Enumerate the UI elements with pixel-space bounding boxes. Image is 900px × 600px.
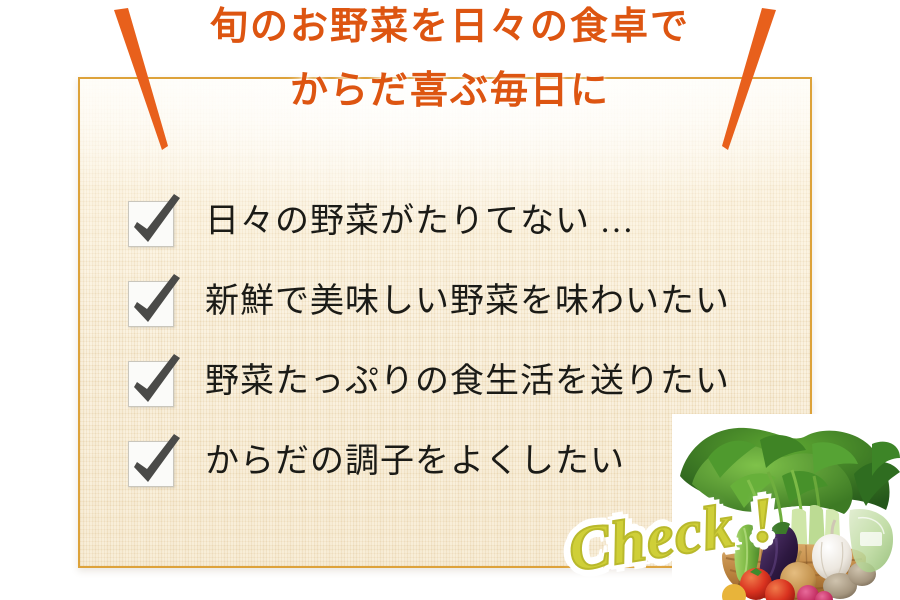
checkbox-checked bbox=[128, 361, 174, 407]
headline-line-2: からだ喜ぶ毎日に bbox=[0, 72, 900, 110]
garlic bbox=[812, 534, 852, 580]
checkbox-checked bbox=[128, 281, 174, 327]
headline-line-1: 旬のお野菜を日々の食卓で bbox=[0, 8, 900, 46]
checklist-item-label: 日々の野菜がたりてない … bbox=[205, 196, 635, 248]
checklist-item-label: からだの調子をよくしたい bbox=[205, 436, 625, 488]
checklist-item: 日々の野菜がたりてない … bbox=[128, 196, 768, 276]
headline-block: 旬のお野菜を日々の食卓で からだ喜ぶ毎日に bbox=[0, 8, 900, 110]
promo-banner: 旬のお野菜を日々の食卓で からだ喜ぶ毎日に 日々の野菜がたりてない … 新鮮で美… bbox=[0, 0, 900, 600]
checklist-item-label: 野菜たっぷりの食生活を送りたい bbox=[205, 356, 730, 408]
checkbox-checked bbox=[128, 201, 174, 247]
checklist-item: 新鮮で美味しい野菜を味わいたい bbox=[128, 276, 768, 356]
checklist-item-label: 新鮮で美味しい野菜を味わいたい bbox=[205, 276, 730, 328]
checkbox-checked bbox=[128, 441, 174, 487]
